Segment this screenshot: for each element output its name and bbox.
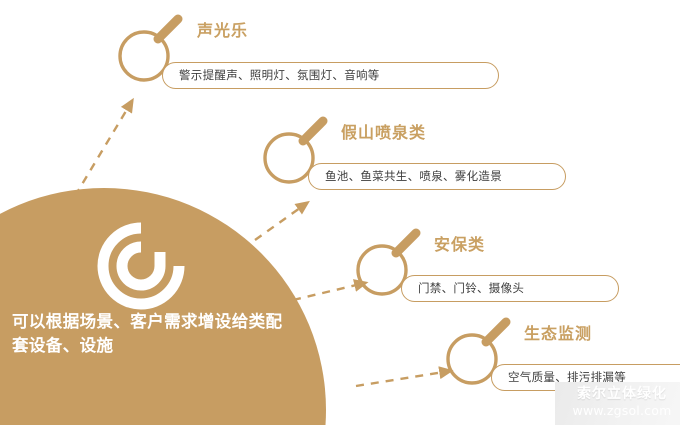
category-detail-pill: 门禁、门铃、摄像头 bbox=[401, 275, 619, 302]
watermark: 索尔立体绿化 www.zgsol.com bbox=[555, 382, 680, 425]
watermark-url: www.zgsol.com bbox=[563, 403, 680, 418]
category-title: 安保类 bbox=[434, 231, 485, 255]
category-title: 生态监测 bbox=[524, 320, 592, 344]
infographic-canvas: 可以根据场景、客户需求增设给类配套设备、设施 声光乐 警示提醒声、照明灯、氛围灯… bbox=[0, 0, 680, 425]
watermark-brand: 索尔立体绿化 bbox=[563, 383, 680, 403]
category-title: 声光乐 bbox=[197, 17, 248, 41]
category-detail-pill: 鱼池、鱼菜共生、喷泉、雾化造景 bbox=[308, 163, 566, 190]
category-title: 假山喷泉类 bbox=[341, 119, 426, 143]
category-detail-pill: 警示提醒声、照明灯、氛围灯、音响等 bbox=[162, 62, 499, 89]
